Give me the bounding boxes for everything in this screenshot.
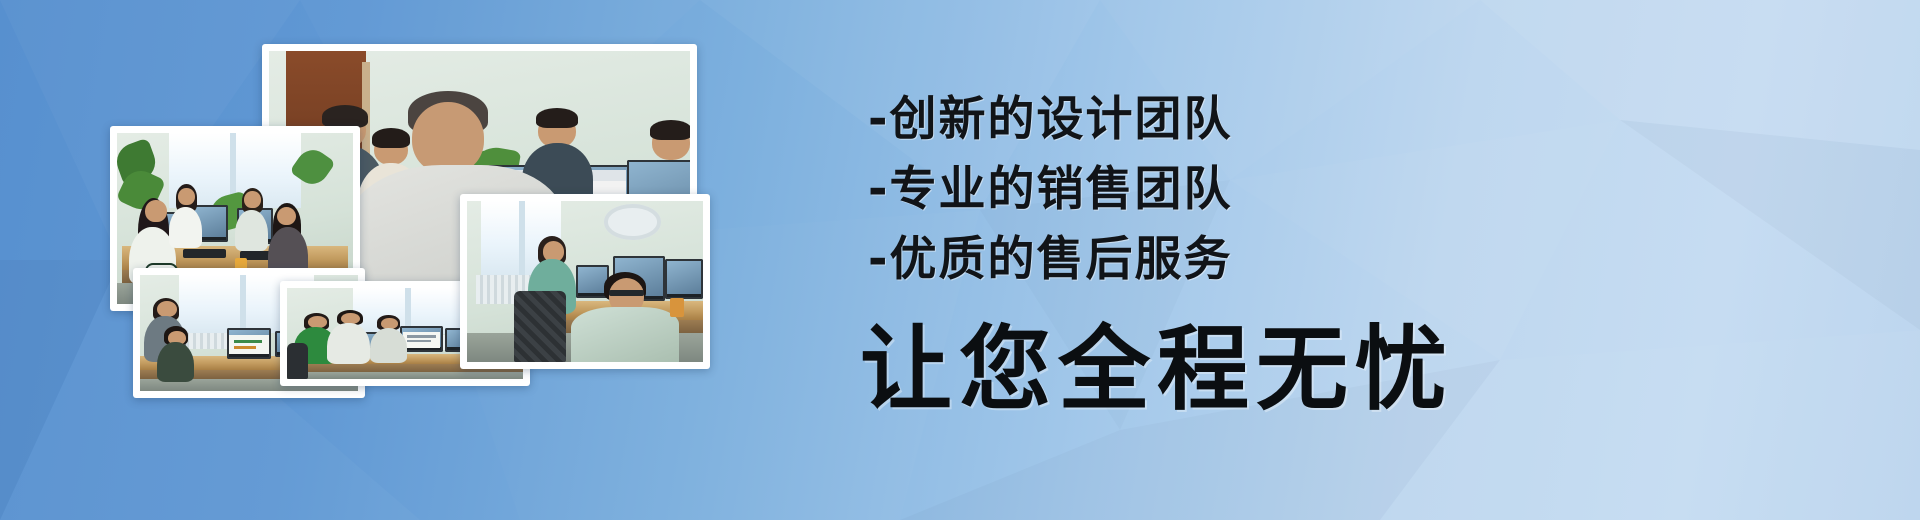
photo-collage [0, 0, 780, 520]
bullet-label-2: 专业的销售团队 [890, 162, 1233, 217]
bullet-label-1: 创新的设计团队 [890, 92, 1233, 147]
bullet-label-3: 优质的售后服务 [890, 232, 1233, 287]
banner-text-block: -创新的设计团队 -专业的销售团队 -优质的售后服务 让您全程无忧 [860, 60, 1900, 480]
promo-banner: -创新的设计团队 -专业的销售团队 -优质的售后服务 让您全程无忧 [0, 0, 1920, 520]
photo-staff-desk-side [460, 194, 710, 369]
bullet-marker-1: - [868, 92, 890, 147]
bullet-item-1: -创新的设计团队 [868, 80, 1233, 149]
bullet-item-3: -优质的售后服务 [868, 220, 1233, 289]
bullet-marker-3: - [868, 232, 890, 287]
bullet-marker-2: - [868, 162, 890, 217]
bullet-item-2: -专业的销售团队 [868, 150, 1233, 219]
banner-headline: 让您全程无忧 [860, 295, 1454, 428]
